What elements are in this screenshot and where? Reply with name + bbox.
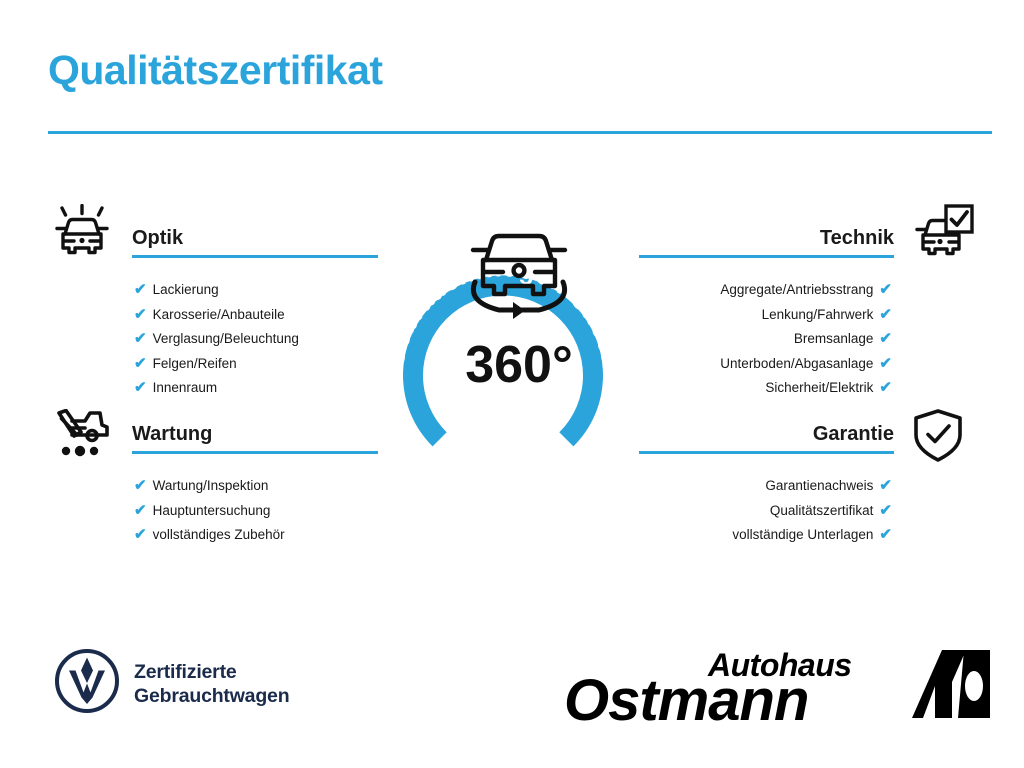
autohaus-ostmann-logo: Autohaus Ostmann (560, 640, 990, 732)
list-item-label: vollständige Unterlagen (732, 523, 873, 548)
check-icon: ✔ (879, 352, 892, 377)
check-icon: ✔ (879, 523, 892, 548)
list-item: Garantienachweis✔ (640, 474, 976, 499)
list-item-label: vollständiges Zubehör (153, 523, 285, 548)
list-item-label: Innenraum (153, 376, 218, 401)
list-item-label: Hauptuntersuchung (153, 499, 271, 524)
checklist-garantie: Garantienachweis✔ Qualitätszertifikat✔ v… (640, 474, 976, 548)
check-icon: ✔ (134, 352, 147, 377)
vw-logo-line1: Zertifizierte (134, 661, 237, 683)
section-header: Technik (640, 204, 976, 266)
list-item-label: Sicherheit/Elektrik (765, 376, 873, 401)
dealer-name-line2: Ostmann (564, 668, 808, 732)
list-item: ✔Verglasung/Beleuchtung (48, 327, 380, 352)
check-icon: ✔ (879, 376, 892, 401)
section-garantie: Garantie Garantienachweis✔ Qualitätszert… (640, 400, 976, 548)
section-wartung: Wartung ✔Wartung/Inspektion ✔Hauptunters… (48, 400, 380, 548)
car-checkbox-icon (912, 202, 976, 262)
list-item: ✔Innenraum (48, 376, 380, 401)
section-technik: Technik Aggregate/Antriebsstrang✔ Lenkun… (640, 204, 976, 401)
list-item-label: Unterboden/Abgasanlage (720, 352, 873, 377)
pencil-car-icon (50, 406, 114, 466)
list-item-label: Aggregate/Antriebsstrang (720, 278, 873, 303)
ao-monogram-icon (912, 650, 990, 718)
certificate-page: Qualitätszertifikat (0, 0, 1024, 768)
check-icon: ✔ (134, 327, 147, 352)
check-icon: ✔ (134, 474, 147, 499)
list-item-label: Wartung/Inspektion (153, 474, 269, 499)
list-item: Unterboden/Abgasanlage✔ (640, 352, 976, 377)
check-icon: ✔ (134, 303, 147, 328)
list-item-label: Felgen/Reifen (153, 352, 237, 377)
check-icon: ✔ (134, 523, 147, 548)
check-icon: ✔ (134, 278, 147, 303)
list-item: Lenkung/Fahrwerk✔ (640, 303, 976, 328)
title-divider (48, 131, 992, 134)
badge-center-label: 360° (465, 336, 573, 394)
car-shine-icon (50, 202, 114, 262)
section-title: Technik (820, 227, 894, 250)
list-item-label: Karosserie/Anbauteile (153, 303, 285, 328)
list-item-label: Lenkung/Fahrwerk (762, 303, 874, 328)
check-icon: ✔ (879, 474, 892, 499)
checklist-optik: ✔Lackierung ✔Karosserie/Anbauteile ✔Verg… (48, 278, 380, 401)
vw-certified-logo: Zertifizierte Gebrauchtwagen (54, 648, 289, 719)
list-item: ✔Hauptuntersuchung (48, 499, 380, 524)
list-item: ✔Wartung/Inspektion (48, 474, 380, 499)
badge-360-check: Gebrauchtwagen-Check 360° (388, 200, 650, 482)
shield-check-icon (906, 406, 970, 466)
list-item: ✔Karosserie/Anbauteile (48, 303, 380, 328)
section-divider (639, 451, 894, 454)
list-item: Bremsanlage✔ (640, 327, 976, 352)
list-item-label: Verglasung/Beleuchtung (153, 327, 299, 352)
list-item: ✔vollständiges Zubehör (48, 523, 380, 548)
list-item: ✔Felgen/Reifen (48, 352, 380, 377)
list-item-label: Qualitätszertifikat (770, 499, 874, 524)
section-header: Optik (48, 204, 380, 266)
list-item: vollständige Unterlagen✔ (640, 523, 976, 548)
section-header: Wartung (48, 400, 380, 462)
section-title: Wartung (132, 423, 212, 446)
page-title: Qualitätszertifikat (48, 48, 383, 93)
checklist-technik: Aggregate/Antriebsstrang✔ Lenkung/Fahrwe… (640, 278, 976, 401)
check-icon: ✔ (134, 376, 147, 401)
check-icon: ✔ (879, 278, 892, 303)
list-item: Sicherheit/Elektrik✔ (640, 376, 976, 401)
section-optik: Optik ✔Lackierung ✔Karosserie/Anbauteile… (48, 204, 380, 401)
vw-logo-line2: Gebrauchtwagen (134, 685, 289, 707)
section-header: Garantie (640, 400, 976, 462)
list-item: Aggregate/Antriebsstrang✔ (640, 278, 976, 303)
check-icon: ✔ (879, 327, 892, 352)
section-title: Garantie (813, 423, 894, 446)
list-item: ✔Lackierung (48, 278, 380, 303)
section-title: Optik (132, 227, 183, 250)
check-icon: ✔ (134, 499, 147, 524)
section-divider (132, 451, 378, 454)
list-item-label: Bremsanlage (794, 327, 874, 352)
vw-logo-text: Zertifizierte Gebrauchtwagen (134, 660, 289, 708)
check-icon: ✔ (879, 303, 892, 328)
list-item-label: Lackierung (153, 278, 219, 303)
section-divider (132, 255, 378, 258)
list-item-label: Garantienachweis (765, 474, 873, 499)
vw-logo-icon (54, 648, 120, 719)
list-item: Qualitätszertifikat✔ (640, 499, 976, 524)
check-icon: ✔ (879, 499, 892, 524)
section-divider (639, 255, 894, 258)
checklist-wartung: ✔Wartung/Inspektion ✔Hauptuntersuchung ✔… (48, 474, 380, 548)
